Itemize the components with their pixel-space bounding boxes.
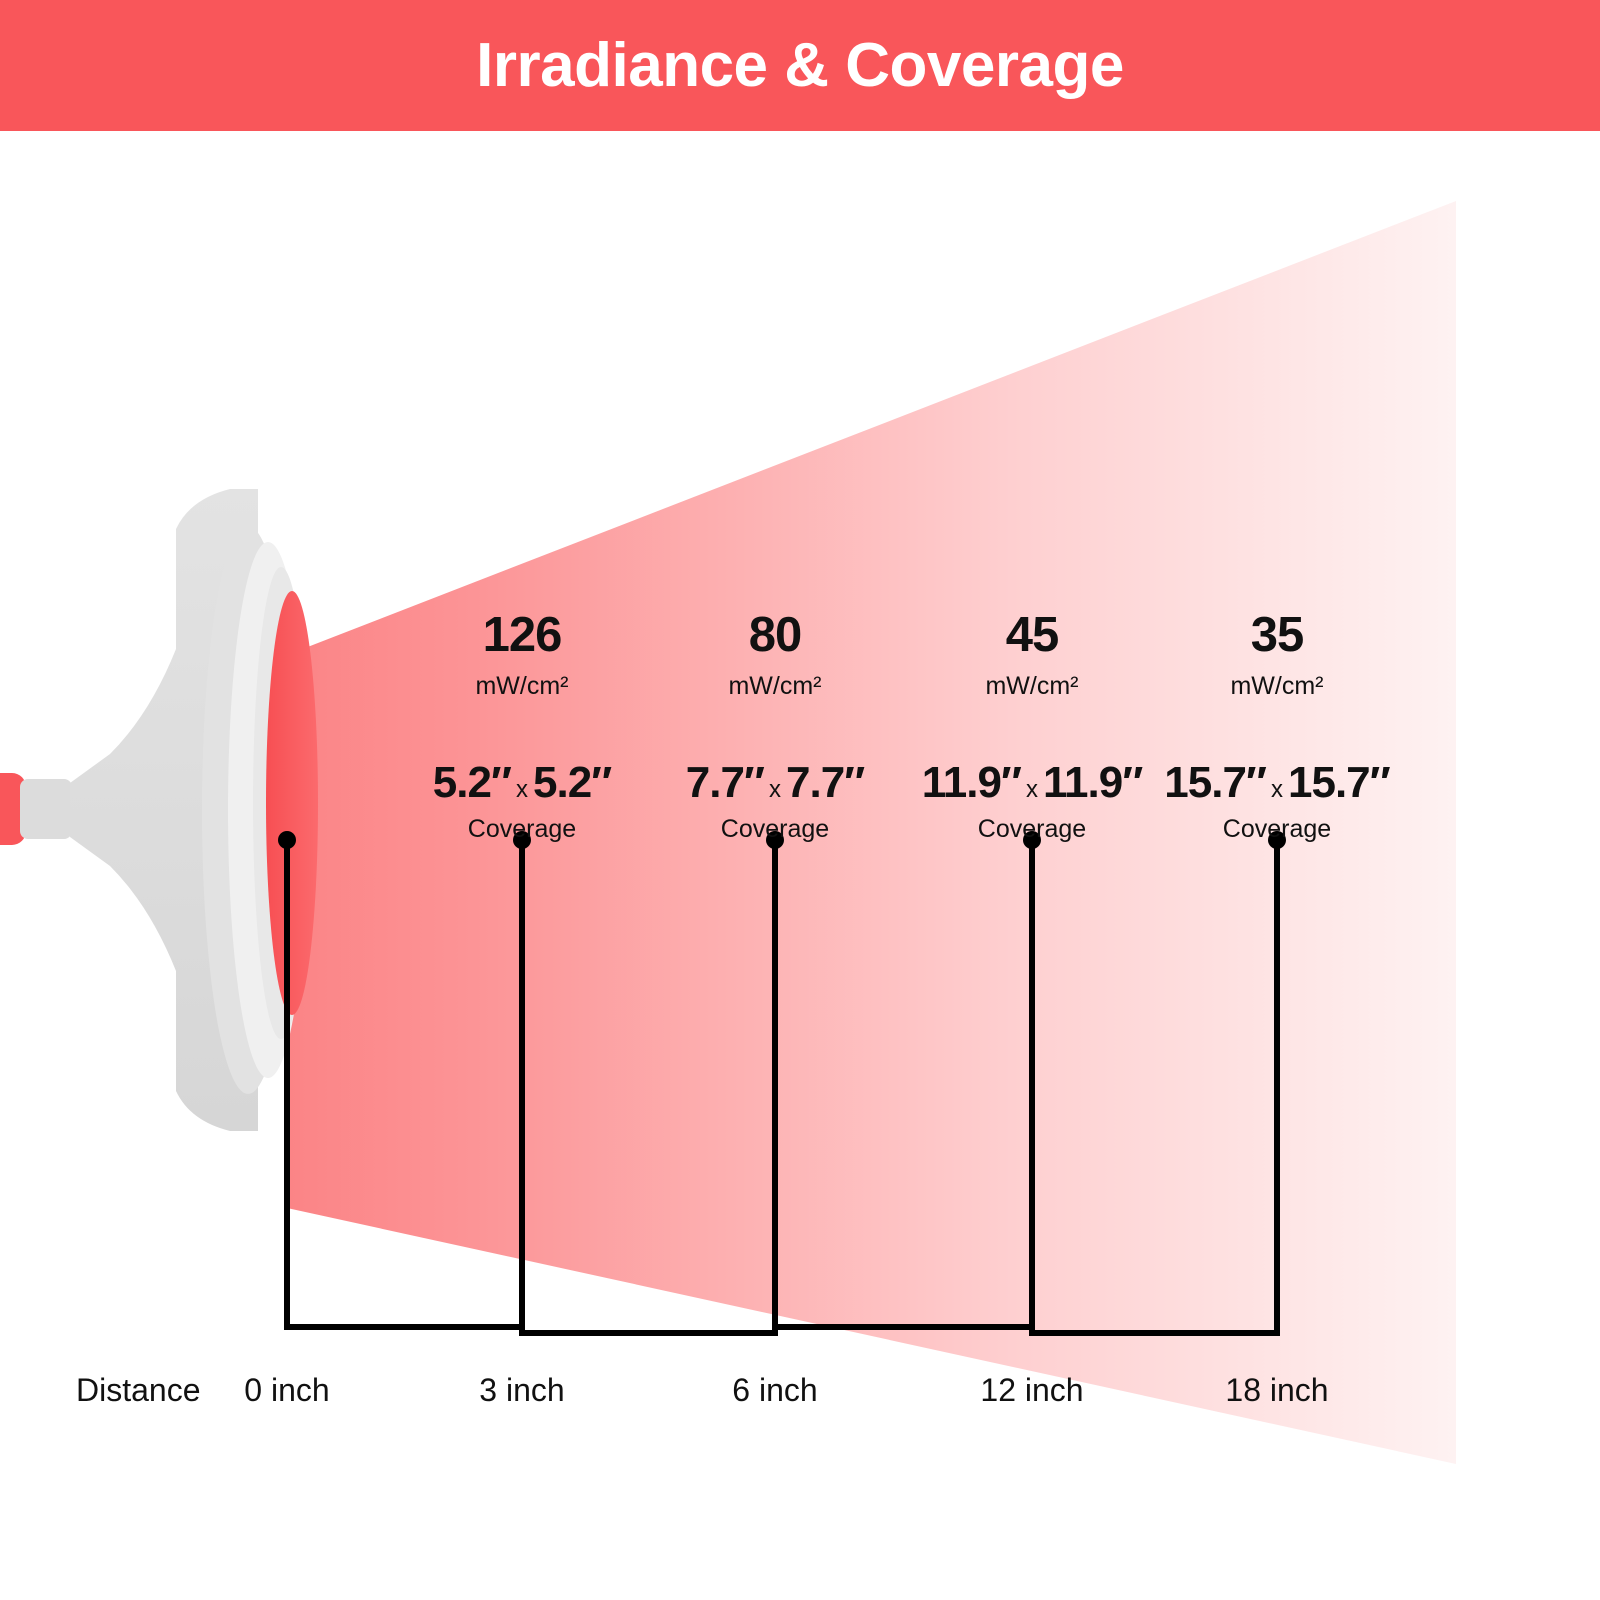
coverage-times-12in: x bbox=[1021, 776, 1043, 803]
leader-dot-0in bbox=[278, 831, 296, 849]
coverage-height-18in: 15.7″ bbox=[1288, 758, 1390, 807]
coverage-width-12in: 11.9″ bbox=[922, 758, 1021, 807]
distance-axis-label: Distance bbox=[76, 1374, 201, 1406]
distance-tick-6in: 6 inch bbox=[675, 1374, 875, 1406]
coverage-width-18in: 15.7″ bbox=[1164, 758, 1266, 807]
measurement-column-18in: 35 mW/cm² 15.7″x15.7″ Coverage bbox=[1077, 611, 1477, 842]
distance-tick-3in: 3 inch bbox=[422, 1374, 622, 1406]
distance-tick-0in: 0 inch bbox=[187, 1374, 387, 1406]
distance-tick-18in: 18 inch bbox=[1177, 1374, 1377, 1406]
coverage-row-18in: 15.7″x15.7″ bbox=[1077, 761, 1477, 805]
irradiance-unit-18in: mW/cm² bbox=[1077, 674, 1477, 699]
coverage-width-6in: 7.7″ bbox=[686, 758, 764, 807]
coverage-times-3in: x bbox=[511, 776, 533, 803]
coverage-label-18in: Coverage bbox=[1077, 817, 1477, 842]
irradiance-value-18in: 35 bbox=[1077, 611, 1477, 660]
coverage-times-6in: x bbox=[764, 776, 786, 803]
infographic-page: Irradiance & Coverage bbox=[0, 0, 1600, 1600]
coverage-width-3in: 5.2″ bbox=[433, 758, 511, 807]
coverage-times-18in: x bbox=[1266, 776, 1288, 803]
page-title: Irradiance & Coverage bbox=[476, 35, 1124, 97]
diagram-stage: 126 mW/cm² 5.2″x5.2″ Coverage 80 mW/cm² … bbox=[0, 131, 1600, 1600]
distance-tick-12in: 12 inch bbox=[932, 1374, 1132, 1406]
header-bar: Irradiance & Coverage bbox=[0, 0, 1600, 131]
